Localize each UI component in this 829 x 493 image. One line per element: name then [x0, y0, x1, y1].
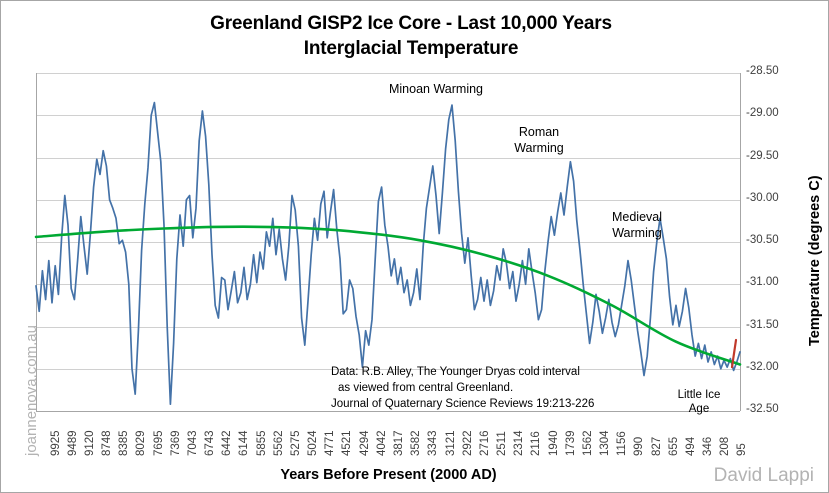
- annotation-minoan-text: Minoan Warming: [381, 81, 491, 97]
- annotation-medieval-warming: Medieval Warming: [597, 209, 677, 241]
- annotation-lia-line-1: Little Ice: [663, 388, 735, 402]
- y-axis-tick-label: -30.50: [746, 234, 779, 246]
- watermark-site: joannenova.com.au: [23, 325, 40, 456]
- x-axis-tick-label: 494: [685, 437, 697, 456]
- x-axis-tick-label: 4771: [324, 430, 336, 456]
- annotation-minoan-warming: Minoan Warming: [381, 81, 491, 97]
- x-axis-tick-label: 990: [633, 437, 645, 456]
- x-axis-tick-label: 4042: [376, 430, 388, 456]
- y-axis-tick-label: -32.00: [746, 361, 779, 373]
- x-axis-tick-label: 7369: [170, 430, 182, 456]
- x-axis-tick-label: 1940: [548, 430, 560, 456]
- plot-area: [1, 1, 828, 492]
- watermark-author: David Lappi: [714, 465, 814, 487]
- x-axis-tick-label: 2314: [513, 430, 525, 456]
- x-axis-tick-label: 2511: [496, 431, 508, 456]
- x-axis-tick-label: 95: [736, 443, 748, 456]
- x-axis-tick-label: 2716: [479, 430, 491, 456]
- x-axis-tick-label: 1739: [565, 430, 577, 456]
- x-axis-tick-label: 2922: [462, 430, 474, 456]
- y-axis-tick-label: -28.50: [746, 65, 779, 77]
- x-axis-tick-label: 208: [719, 437, 731, 456]
- x-axis-tick-label: 827: [651, 437, 663, 456]
- annotation-roman-line-1: Roman: [499, 124, 579, 140]
- x-axis-tick-label: 6442: [221, 430, 233, 456]
- citation-line-2: as viewed from central Greenland.: [331, 380, 594, 396]
- x-axis-tick-label: 8029: [135, 430, 147, 456]
- x-axis-tick-label: 346: [702, 437, 714, 456]
- x-axis-tick-label: 3121: [445, 430, 457, 456]
- citation-line-1: Data: R.B. Alley, The Younger Dryas cold…: [331, 364, 594, 380]
- temperature-series-line: [36, 103, 740, 405]
- citation-line-3: Journal of Quaternary Science Reviews 19…: [331, 396, 594, 412]
- y-axis-title: Temperature (degrees C): [807, 175, 823, 346]
- x-axis-tick-label: 6144: [238, 430, 250, 456]
- y-axis-tick-label: -31.50: [746, 319, 779, 331]
- x-axis-tick-label: 9925: [50, 430, 62, 456]
- annotation-roman-warming: Roman Warming: [499, 124, 579, 156]
- y-axis-tick-label: -29.00: [746, 107, 779, 119]
- x-axis-tick-label: 1562: [582, 430, 594, 456]
- x-axis-tick-label: 9120: [84, 430, 96, 456]
- x-axis-tick-label: 4521: [341, 430, 353, 456]
- annotation-roman-line-2: Warming: [499, 140, 579, 156]
- x-axis-tick-label: 3817: [393, 430, 405, 456]
- x-axis-tick-label: 5024: [307, 430, 319, 456]
- x-axis-tick-label: 5855: [256, 430, 268, 456]
- annotation-lia-line-2: Age: [663, 402, 735, 416]
- x-axis-tick-label: 655: [668, 437, 680, 456]
- annotation-little-ice-age: Little Ice Age: [663, 388, 735, 416]
- y-axis-tick-label: -30.00: [746, 192, 779, 204]
- annotation-medieval-line-1: Medieval: [597, 209, 677, 225]
- x-axis-tick-label: 3343: [427, 430, 439, 456]
- y-axis-tick-label: -29.50: [746, 150, 779, 162]
- x-axis-tick-label: 9489: [67, 430, 79, 456]
- data-source-citation: Data: R.B. Alley, The Younger Dryas cold…: [331, 364, 594, 412]
- annotation-medieval-line-2: Warming: [597, 225, 677, 241]
- x-axis-tick-label: 6743: [204, 430, 216, 456]
- y-axis-line-right: [740, 73, 741, 411]
- x-axis-tick-label: 4294: [359, 430, 371, 456]
- x-axis-tick-label: 5562: [273, 430, 285, 456]
- x-axis-title: Years Before Present (2000 AD): [36, 467, 741, 483]
- x-axis-tick-label: 8385: [118, 430, 130, 456]
- x-axis-tick-label: 2116: [530, 431, 542, 456]
- x-axis-tick-label: 5275: [290, 430, 302, 456]
- y-axis-tick-label: -31.00: [746, 276, 779, 288]
- x-axis-tick-label: 8748: [101, 430, 113, 456]
- y-axis-tick-label: -32.50: [746, 403, 779, 415]
- x-axis-tick-label: 3582: [410, 430, 422, 456]
- x-axis-tick-label: 1156: [616, 431, 628, 456]
- x-axis-tick-label: 7043: [187, 430, 199, 456]
- chart-frame: Greenland GISP2 Ice Core - Last 10,000 Y…: [0, 0, 829, 493]
- x-axis-tick-label: 7695: [153, 430, 165, 456]
- x-axis-tick-label: 1304: [599, 430, 611, 456]
